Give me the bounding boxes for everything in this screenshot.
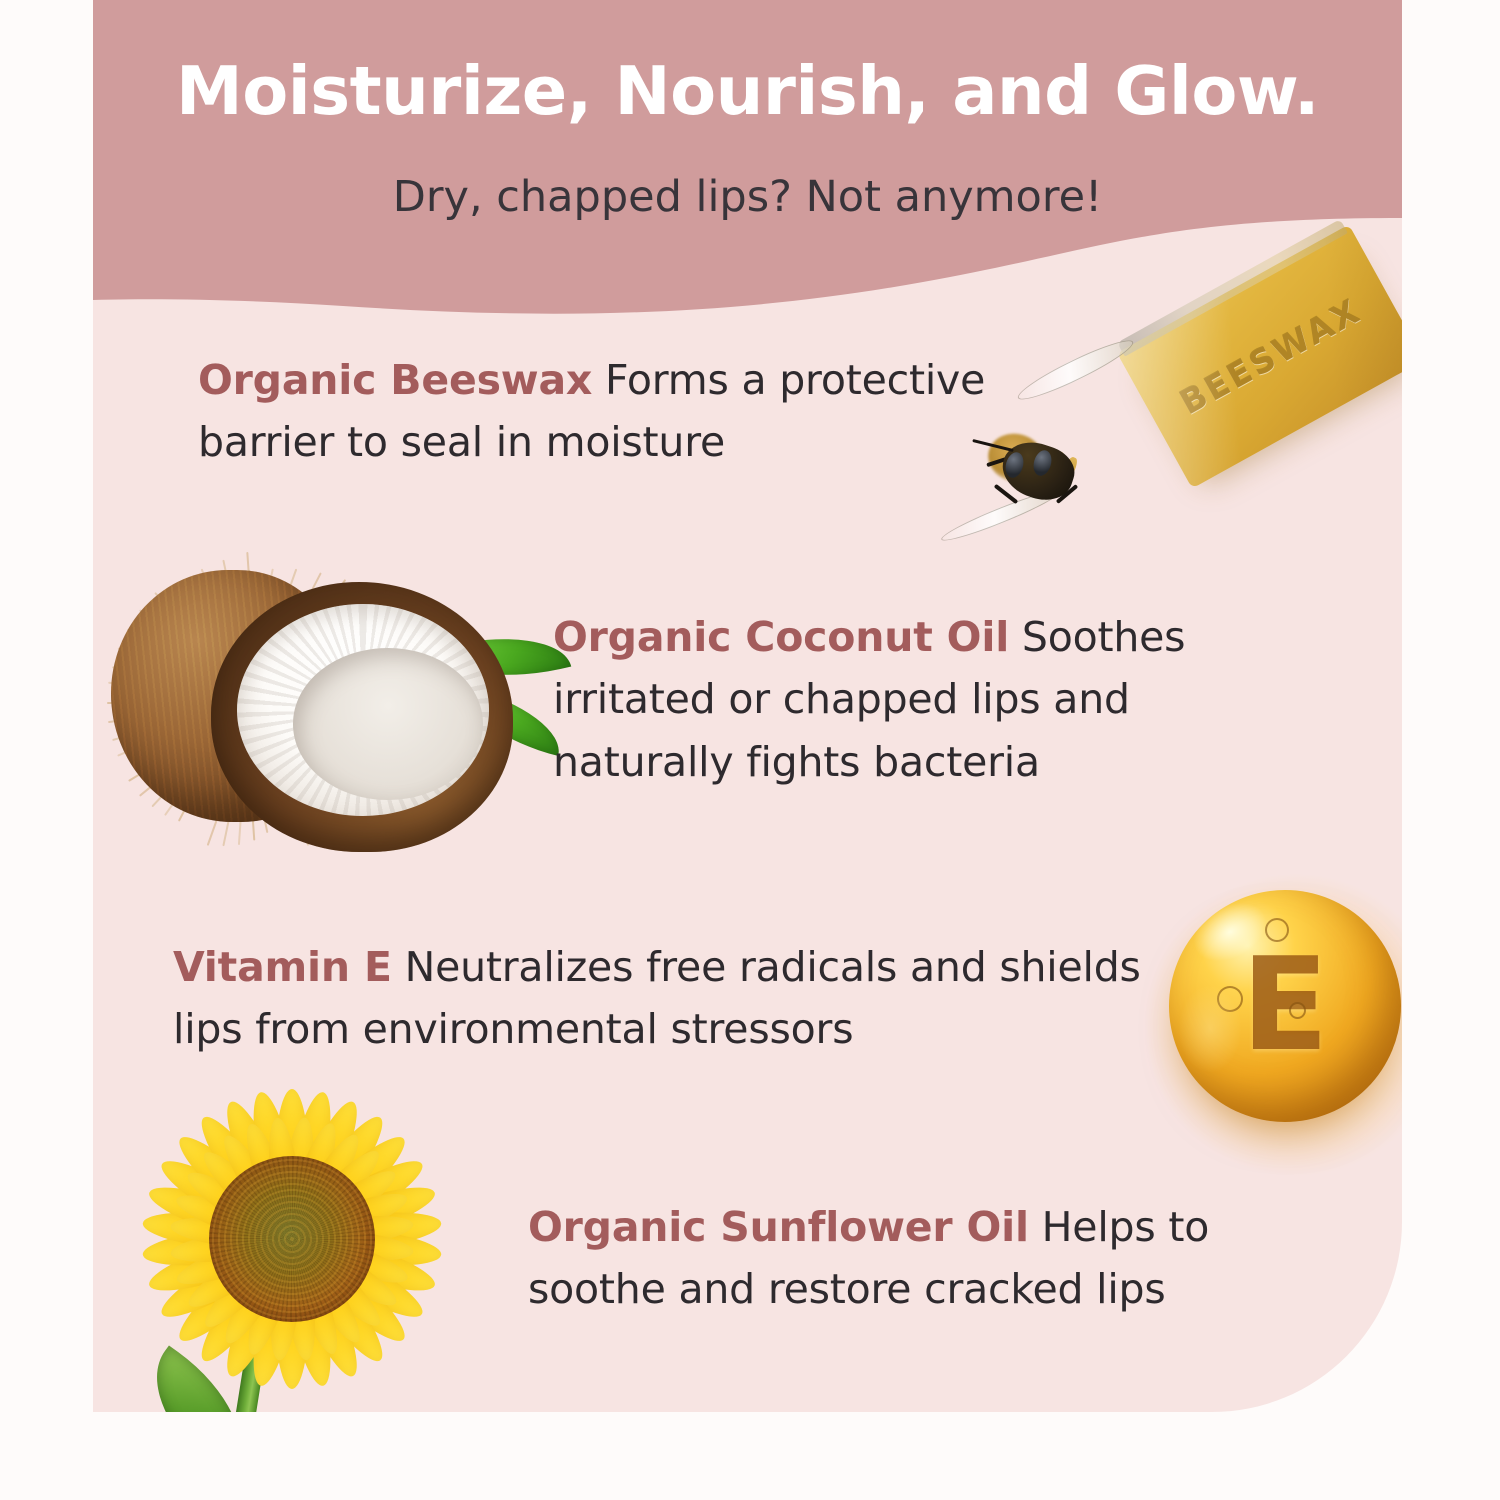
coconut-image <box>93 552 563 882</box>
beeswax-bar-label: BEESWAX <box>1117 224 1402 488</box>
coconut-open-half <box>211 582 513 852</box>
sunflower-image <box>93 1080 523 1412</box>
ingredient-beeswax-text: Organic Beeswax Forms a protective barri… <box>198 349 1078 474</box>
sunflower-head <box>139 1086 445 1392</box>
ingredient-name-vitamin-e: Vitamin E <box>173 943 392 991</box>
page-subtitle: Dry, chapped lips? Not anymore! <box>93 172 1402 222</box>
page-title: Moisturize, Nourish, and Glow. <box>93 52 1402 130</box>
coconut-hollow <box>293 648 483 800</box>
ingredient-vitamin-e-text: Vitamin E Neutralizes free radicals and … <box>173 936 1213 1061</box>
sunflower-disc <box>209 1156 375 1322</box>
vitamin-e-bubble <box>1265 918 1289 942</box>
ingredient-sunflower-text: Organic Sunflower Oil Helps to soothe an… <box>528 1196 1308 1321</box>
coconut-flesh <box>237 604 489 816</box>
ingredient-name-beeswax: Organic Beeswax <box>198 356 592 404</box>
ingredient-coconut-text: Organic Coconut Oil Soothes irritated or… <box>553 606 1283 793</box>
ingredient-name-sunflower: Organic Sunflower Oil <box>528 1203 1029 1251</box>
ingredient-card: Moisturize, Nourish, and Glow. Dry, chap… <box>93 0 1402 1412</box>
beeswax-bar-shape: BEESWAX <box>1117 224 1402 488</box>
vitamin-e-bubble <box>1289 1002 1306 1019</box>
ingredient-name-coconut: Organic Coconut Oil <box>553 613 1009 661</box>
